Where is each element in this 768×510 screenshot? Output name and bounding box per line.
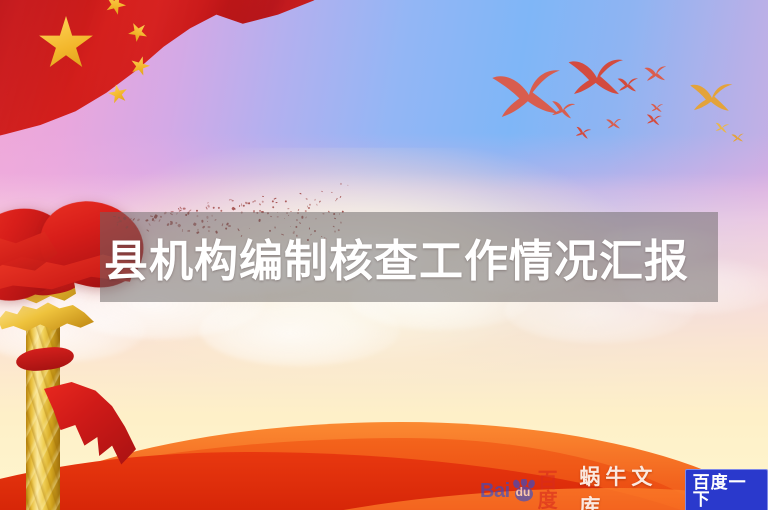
particle-dot <box>315 204 317 206</box>
particle-dot <box>284 200 287 202</box>
dove-icon <box>651 104 663 112</box>
dove-icon <box>606 118 622 129</box>
cover-image-canvas: 县机构编制核查工作情况汇报 Bai du 百度 蜗牛文库 百度一下 <box>0 0 768 510</box>
baidu-logo-du: du <box>516 486 531 498</box>
particle-dot <box>319 200 321 202</box>
particle-dot <box>212 206 214 208</box>
baidu-paw-icon: du <box>511 479 537 503</box>
dove-icon <box>644 66 667 83</box>
particle-dot <box>259 203 261 206</box>
particle-dot <box>261 200 263 202</box>
particle-dot <box>239 205 241 207</box>
dove-icon <box>690 83 734 113</box>
baidu-logo-hanzi: 百度 <box>538 471 572 510</box>
particle-dot <box>298 209 300 211</box>
particle-dot <box>340 183 342 185</box>
particle-dot <box>335 200 337 202</box>
particle-dot <box>276 202 278 203</box>
particle-dot <box>183 208 186 210</box>
dove-icon <box>551 101 576 119</box>
particle-dot <box>243 205 245 207</box>
dove-icon <box>646 114 662 125</box>
particle-dot <box>262 195 264 196</box>
particle-dot <box>252 201 254 203</box>
particle-dot <box>305 198 307 200</box>
dove-icon <box>715 123 729 133</box>
particle-dot <box>310 203 312 206</box>
particle-dot <box>274 198 277 200</box>
dove-icon <box>731 133 744 142</box>
baidu-search-button[interactable]: 百度一下 <box>685 469 768 510</box>
particle-dot <box>271 200 273 202</box>
dove-icon <box>618 78 639 92</box>
site-name-label: 蜗牛文库 <box>579 461 676 510</box>
baidu-logo: Bai du 百度 <box>480 471 571 510</box>
particle-dot <box>308 207 310 209</box>
particle-dot <box>314 199 316 201</box>
dove-icon <box>569 58 626 98</box>
particle-dot <box>340 195 342 197</box>
baidu-logo-bai: Bai <box>480 481 510 501</box>
column-collar <box>15 345 75 374</box>
page-title: 县机构编制核查工作情况汇报 <box>104 212 714 302</box>
particle-dot <box>287 208 289 209</box>
particle-dot <box>336 197 338 199</box>
watermark-bar: Bai du 百度 蜗牛文库 百度一下 <box>480 474 768 508</box>
dove-icon <box>575 127 591 139</box>
particle-dot <box>271 206 274 208</box>
particle-dot <box>248 202 251 205</box>
